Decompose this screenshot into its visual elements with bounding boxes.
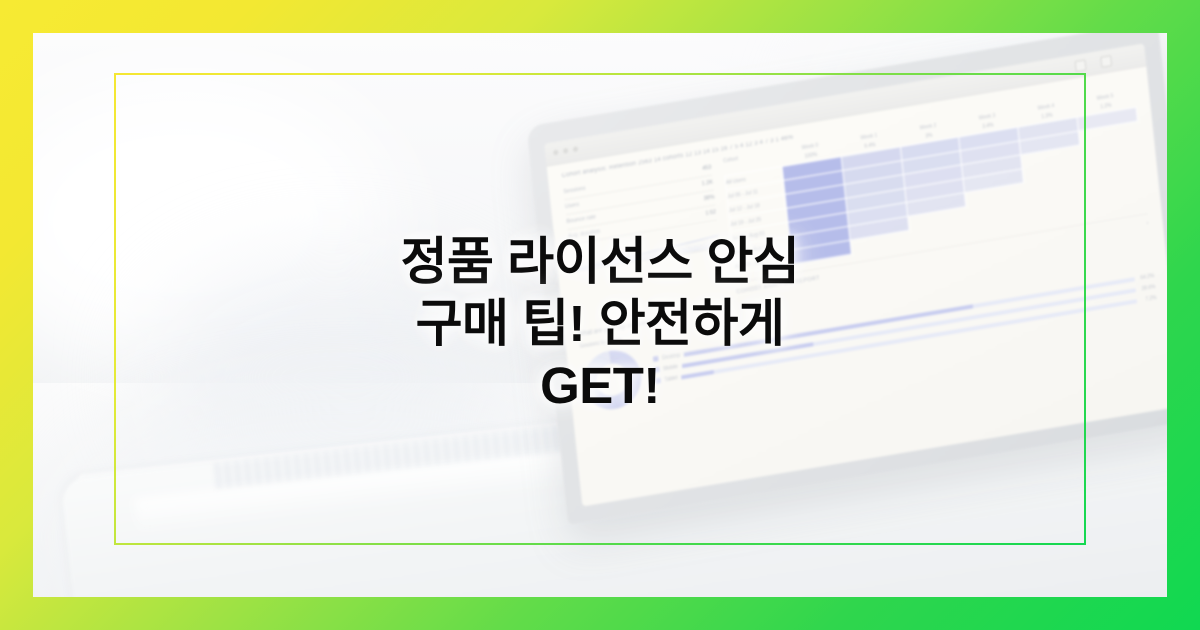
window-dot-icon <box>553 150 558 156</box>
metric-label: Bounce rate <box>566 214 596 225</box>
metric-label: Avg. duration <box>568 229 600 240</box>
legend-value: 64.2% <box>1138 272 1154 281</box>
menu-icon <box>1100 55 1112 68</box>
chevron-right-icon: › <box>1146 220 1149 226</box>
metric-value: 1.2K <box>701 180 713 188</box>
legend-bar <box>681 299 1137 379</box>
legend-swatch-icon <box>653 356 658 362</box>
legend-label: Tablet <box>664 375 678 383</box>
refresh-icon <box>1075 59 1087 72</box>
window-dot-icon <box>563 148 568 154</box>
background-photo: Cohort analysis: Retention 2563 14 cohor… <box>33 33 1167 597</box>
legend-bar <box>682 288 1136 368</box>
promo-banner: Cohort analysis: Retention 2563 14 cohor… <box>0 0 1200 630</box>
legend-value: 28.6% <box>1139 283 1155 292</box>
window-dot-icon <box>573 146 578 152</box>
legend-label: Desktop <box>662 352 681 361</box>
legend-swatch-icon <box>655 378 660 384</box>
metric-label: Users <box>565 202 580 210</box>
metrics-column: Sessions 453 Users 1.2K Bounce rate <box>563 161 720 273</box>
laptop-screen: Cohort analysis: Retention 2563 14 cohor… <box>544 43 1167 506</box>
metric-value: 1:52 <box>705 209 716 217</box>
legend-swatch-icon <box>654 367 659 373</box>
devices-donut-chart <box>581 346 644 413</box>
legend-item: Mobile 28.6% <box>654 283 1156 373</box>
metric-value: 38% <box>703 194 714 202</box>
legend-value: 7.2% <box>1141 294 1157 303</box>
cohort-report-label: COHORT ANALYSIS REPORT <box>736 275 820 295</box>
metric-label: Sessions <box>563 186 586 196</box>
laptop: Cohort analysis: Retention 2563 14 cohor… <box>463 43 1167 563</box>
metric-value: 453 <box>702 165 712 172</box>
legend-label: Mobile <box>663 363 678 371</box>
inner-white-plate: Cohort analysis: Retention 2563 14 cohor… <box>33 33 1167 597</box>
